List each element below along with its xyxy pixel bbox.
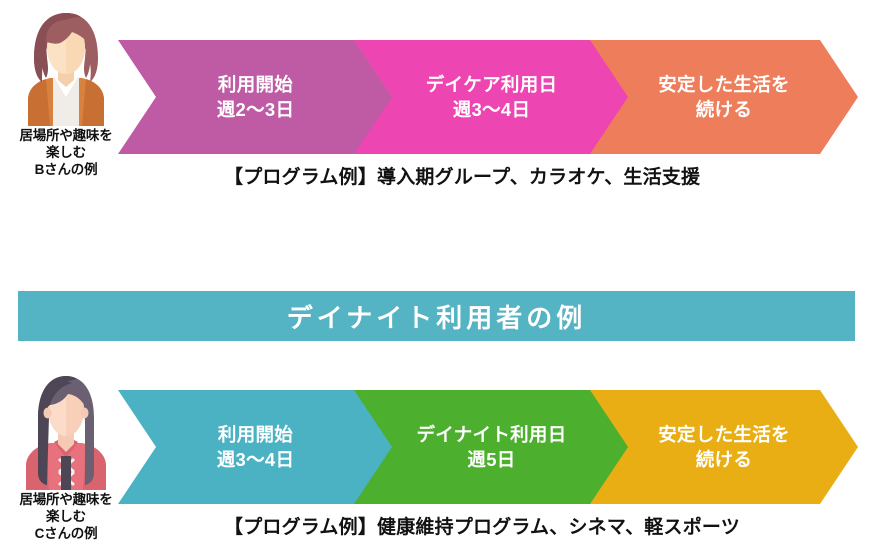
chevron-step-1[interactable]: 利用開始 週2〜3日 (118, 40, 393, 154)
chevron-step-1-label: 利用開始 週2〜3日 (217, 72, 295, 122)
flow-band-daynight: 利用開始 週3〜4日 デイナイト利用日 週5日 安定した生活を 続ける (118, 390, 858, 504)
chevron-step-2[interactable]: デイナイト利用日 週5日 (354, 390, 629, 504)
chevron-step-3-label: 安定した生活を 続ける (658, 72, 790, 122)
chevron-step-3[interactable]: 安定した生活を 続ける (590, 390, 858, 504)
program-example-daycare: 【プログラム例】導入期グループ、カラオケ、生活支援 (224, 162, 700, 189)
program-example-daynight: 【プログラム例】健康維持プログラム、シネマ、軽スポーツ (224, 512, 740, 539)
section-banner-daynight: デイナイト利用者の例 (18, 291, 855, 341)
avatar-woman-brown-hair (16, 8, 116, 126)
person-block-c: 居場所や趣味を 楽しむ Cさんの例 (6, 372, 126, 542)
person-caption: 居場所や趣味を 楽しむ Bさんの例 (6, 127, 126, 178)
avatar-woman-dark-hair (16, 372, 116, 490)
chevron-step-2-label: デイナイト利用日 週5日 (416, 422, 566, 472)
person-caption: 居場所や趣味を 楽しむ Cさんの例 (6, 491, 126, 542)
flow-band-daycare: 利用開始 週2〜3日 デイケア利用日 週3〜4日 安定した生活を 続ける (118, 40, 858, 154)
chevron-step-3[interactable]: 安定した生活を 続ける (590, 40, 858, 154)
chevron-step-1[interactable]: 利用開始 週3〜4日 (118, 390, 393, 504)
section-banner-title: デイナイト利用者の例 (287, 298, 586, 335)
chevron-step-2-label: デイケア利用日 週3〜4日 (426, 72, 558, 122)
infographic-canvas: 居場所や趣味を 楽しむ Bさんの例 利用開始 週2〜3日 デイケア利用日 週3〜… (0, 0, 870, 554)
person-block-b: 居場所や趣味を 楽しむ Bさんの例 (6, 8, 126, 178)
chevron-step-3-label: 安定した生活を 続ける (658, 422, 790, 472)
chevron-step-1-label: 利用開始 週3〜4日 (217, 422, 295, 472)
chevron-step-2[interactable]: デイケア利用日 週3〜4日 (354, 40, 629, 154)
